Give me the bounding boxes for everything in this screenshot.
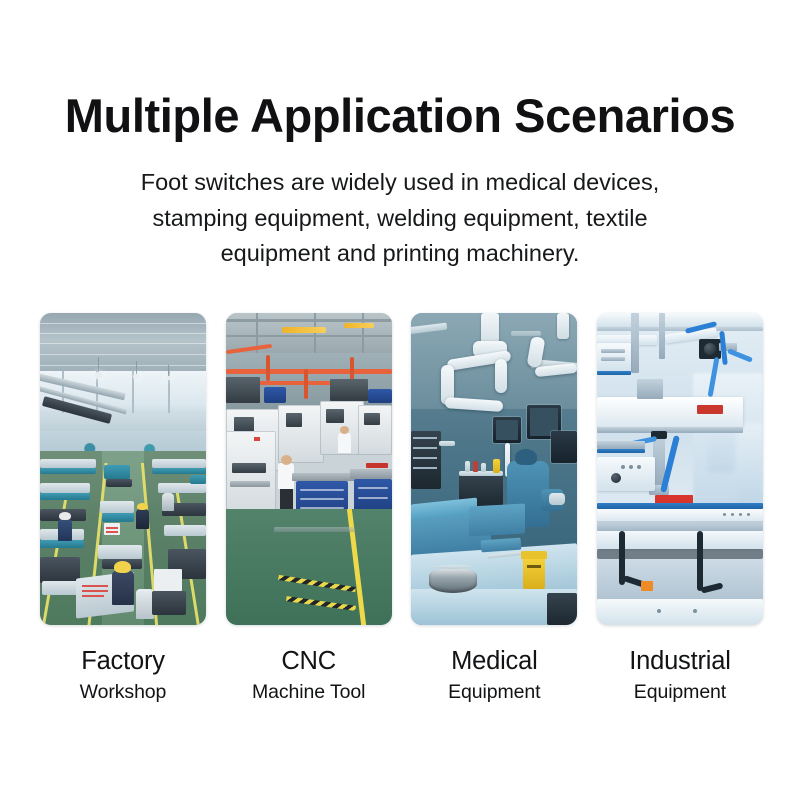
subtitle-line-3: equipment and printing machinery. <box>100 236 700 272</box>
caption-sub-cnc: Machine Tool <box>226 680 392 705</box>
caption-medical: Medical Equipment <box>411 625 577 705</box>
factory-workshop-photo <box>40 313 206 625</box>
caption-sub-medical: Equipment <box>411 680 577 705</box>
caption-factory: Factory Workshop <box>40 625 206 705</box>
caption-main-medical: Medical <box>411 647 577 677</box>
caption-main-industrial: Industrial <box>597 647 763 677</box>
subtitle-line-1: Foot switches are widely used in medical… <box>100 165 700 201</box>
caption-main-cnc: CNC <box>226 647 392 677</box>
industrial-equipment-photo <box>597 313 763 625</box>
application-scenarios-page: Multiple Application Scenarios Foot swit… <box>0 0 800 800</box>
caption-industrial: Industrial Equipment <box>597 625 763 705</box>
header-section: Multiple Application Scenarios Foot swit… <box>0 0 800 272</box>
caption-cnc: CNC Machine Tool <box>226 625 392 705</box>
page-title: Multiple Application Scenarios <box>0 92 800 141</box>
scenario-card-industrial: Industrial Equipment <box>597 313 763 705</box>
page-subtitle: Foot switches are widely used in medical… <box>100 165 700 272</box>
subtitle-line-2: stamping equipment, welding equipment, t… <box>100 201 700 237</box>
caption-sub-industrial: Equipment <box>597 680 763 705</box>
caption-main-factory: Factory <box>40 647 206 677</box>
scenario-card-medical: Medical Equipment <box>411 313 577 705</box>
scenario-gallery: Factory Workshop <box>40 313 763 705</box>
caption-sub-factory: Workshop <box>40 680 206 705</box>
scenario-card-cnc: CNC Machine Tool <box>226 313 392 705</box>
medical-equipment-photo <box>411 313 577 625</box>
cnc-machine-tool-photo <box>226 313 392 625</box>
scenario-card-factory: Factory Workshop <box>40 313 206 705</box>
